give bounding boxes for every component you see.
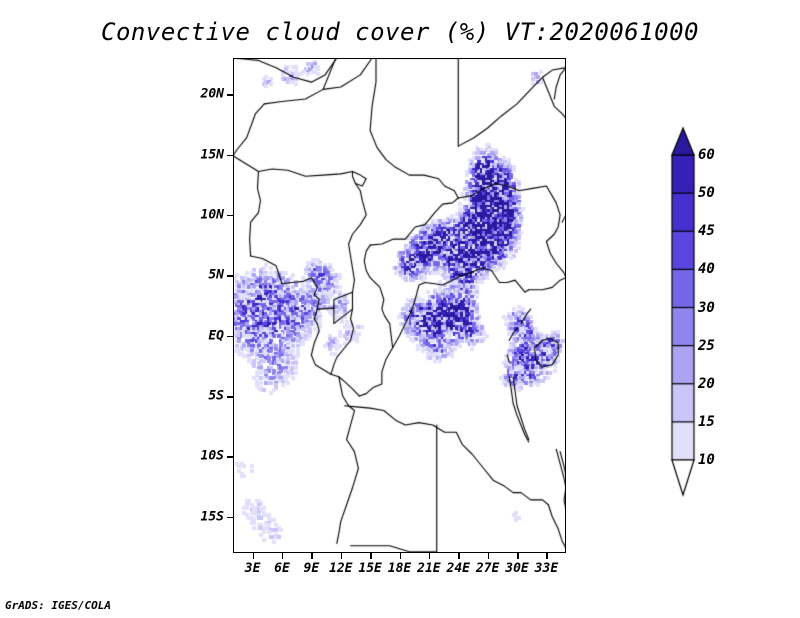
y-tick-5N: [227, 275, 233, 277]
x-tick-9E: [311, 553, 313, 559]
y-tick-EQ: [227, 336, 233, 338]
x-axis-label-33E: 33E: [535, 561, 558, 576]
y-tick-15N: [227, 155, 233, 157]
x-tick-15E: [370, 553, 372, 559]
y-axis-label-15N: 15N: [201, 147, 224, 162]
colorbar-label-30: 30: [698, 300, 715, 316]
y-axis-label-20N: 20N: [201, 87, 224, 102]
x-axis-label-18E: 18E: [388, 561, 411, 576]
x-axis-label-24E: 24E: [447, 561, 470, 576]
x-tick-12E: [341, 553, 343, 559]
x-tick-21E: [429, 553, 431, 559]
x-axis-label-3E: 3E: [245, 561, 261, 576]
colorbar-label-45: 45: [698, 223, 715, 239]
y-tick-10S: [227, 456, 233, 458]
colorbar-label-10: 10: [698, 452, 715, 468]
y-axis-label-5N: 5N: [208, 268, 224, 283]
x-axis-label-6E: 6E: [274, 561, 290, 576]
colorbar-label-20: 20: [698, 376, 715, 392]
x-axis-label-15E: 15E: [358, 561, 381, 576]
x-tick-33E: [546, 553, 548, 559]
x-axis-label-30E: 30E: [505, 561, 528, 576]
colorbar-label-25: 25: [698, 338, 715, 354]
y-axis-label-5S: 5S: [208, 389, 224, 404]
x-tick-18E: [400, 553, 402, 559]
x-tick-24E: [458, 553, 460, 559]
x-tick-27E: [488, 553, 490, 559]
y-axis-label-EQ: EQ: [208, 328, 224, 343]
colorbar-label-15: 15: [698, 414, 715, 430]
x-tick-6E: [282, 553, 284, 559]
x-tick-3E: [253, 553, 255, 559]
x-axis-label-9E: 9E: [304, 561, 320, 576]
y-tick-20N: [227, 94, 233, 96]
y-tick-5S: [227, 396, 233, 398]
x-axis-label-21E: 21E: [417, 561, 440, 576]
y-axis-label-15S: 15S: [201, 509, 224, 524]
x-axis-label-12E: 12E: [329, 561, 352, 576]
colorbar-label-50: 50: [698, 185, 715, 201]
colorbar[interactable]: 101520253040455060: [660, 120, 790, 505]
colorbar-label-60: 60: [698, 147, 715, 163]
colorbar-gradient: [660, 120, 790, 505]
page-title: Convective cloud cover (%) VT:2020061000: [0, 18, 800, 46]
convective-cloud-map: [233, 58, 566, 553]
map-panel[interactable]: 20N15N10N5NEQ5S10S15S3E6E9E12E15E18E21E2…: [233, 58, 566, 553]
y-tick-15S: [227, 517, 233, 519]
y-axis-label-10S: 10S: [201, 449, 224, 464]
y-tick-10N: [227, 215, 233, 217]
colorbar-label-40: 40: [698, 261, 715, 277]
x-tick-30E: [517, 553, 519, 559]
y-axis-label-10N: 10N: [201, 207, 224, 222]
x-axis-label-27E: 27E: [476, 561, 499, 576]
grads-attribution: GrADS: IGES/COLA: [5, 599, 111, 612]
